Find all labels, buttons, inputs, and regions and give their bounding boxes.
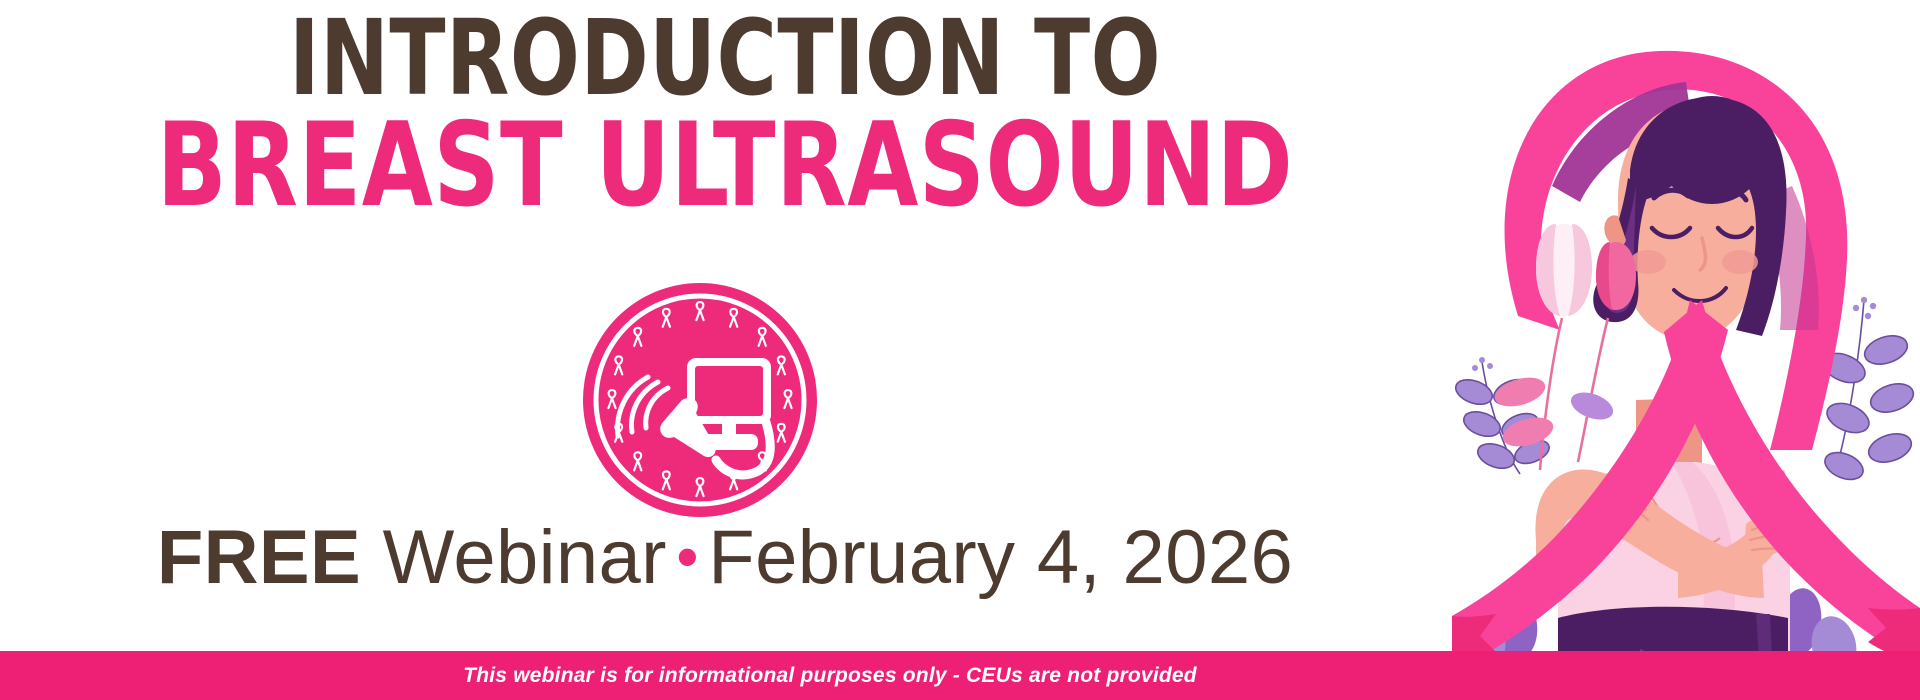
- banner-text-column: INTRODUCTION TO BREAST ULTRASOUND: [0, 0, 1450, 651]
- headline-line-1: INTRODUCTION TO: [87, 6, 1363, 110]
- purple-foliage-left: [1452, 357, 1552, 474]
- headline-line-2: BREAST ULTRASOUND: [87, 108, 1363, 224]
- breast-ultrasound-badge-icon: [582, 282, 818, 518]
- subheadline-free: FREE: [157, 515, 361, 600]
- subheadline-webinar: Webinar: [383, 515, 667, 600]
- subheadline: FREE Webinar•February 4, 2026: [0, 520, 1450, 596]
- disclaimer-text: This webinar is for informational purpos…: [463, 664, 1197, 688]
- disclaimer-strip: This webinar is for informational purpos…: [0, 651, 1920, 700]
- bullet-separator-icon: •: [667, 523, 708, 590]
- subheadline-date: February 4, 2026: [708, 515, 1293, 600]
- woman-hugging-pink-ribbon-illustration: [1440, 0, 1920, 700]
- webinar-promo-banner: INTRODUCTION TO BREAST ULTRASOUND: [0, 0, 1920, 700]
